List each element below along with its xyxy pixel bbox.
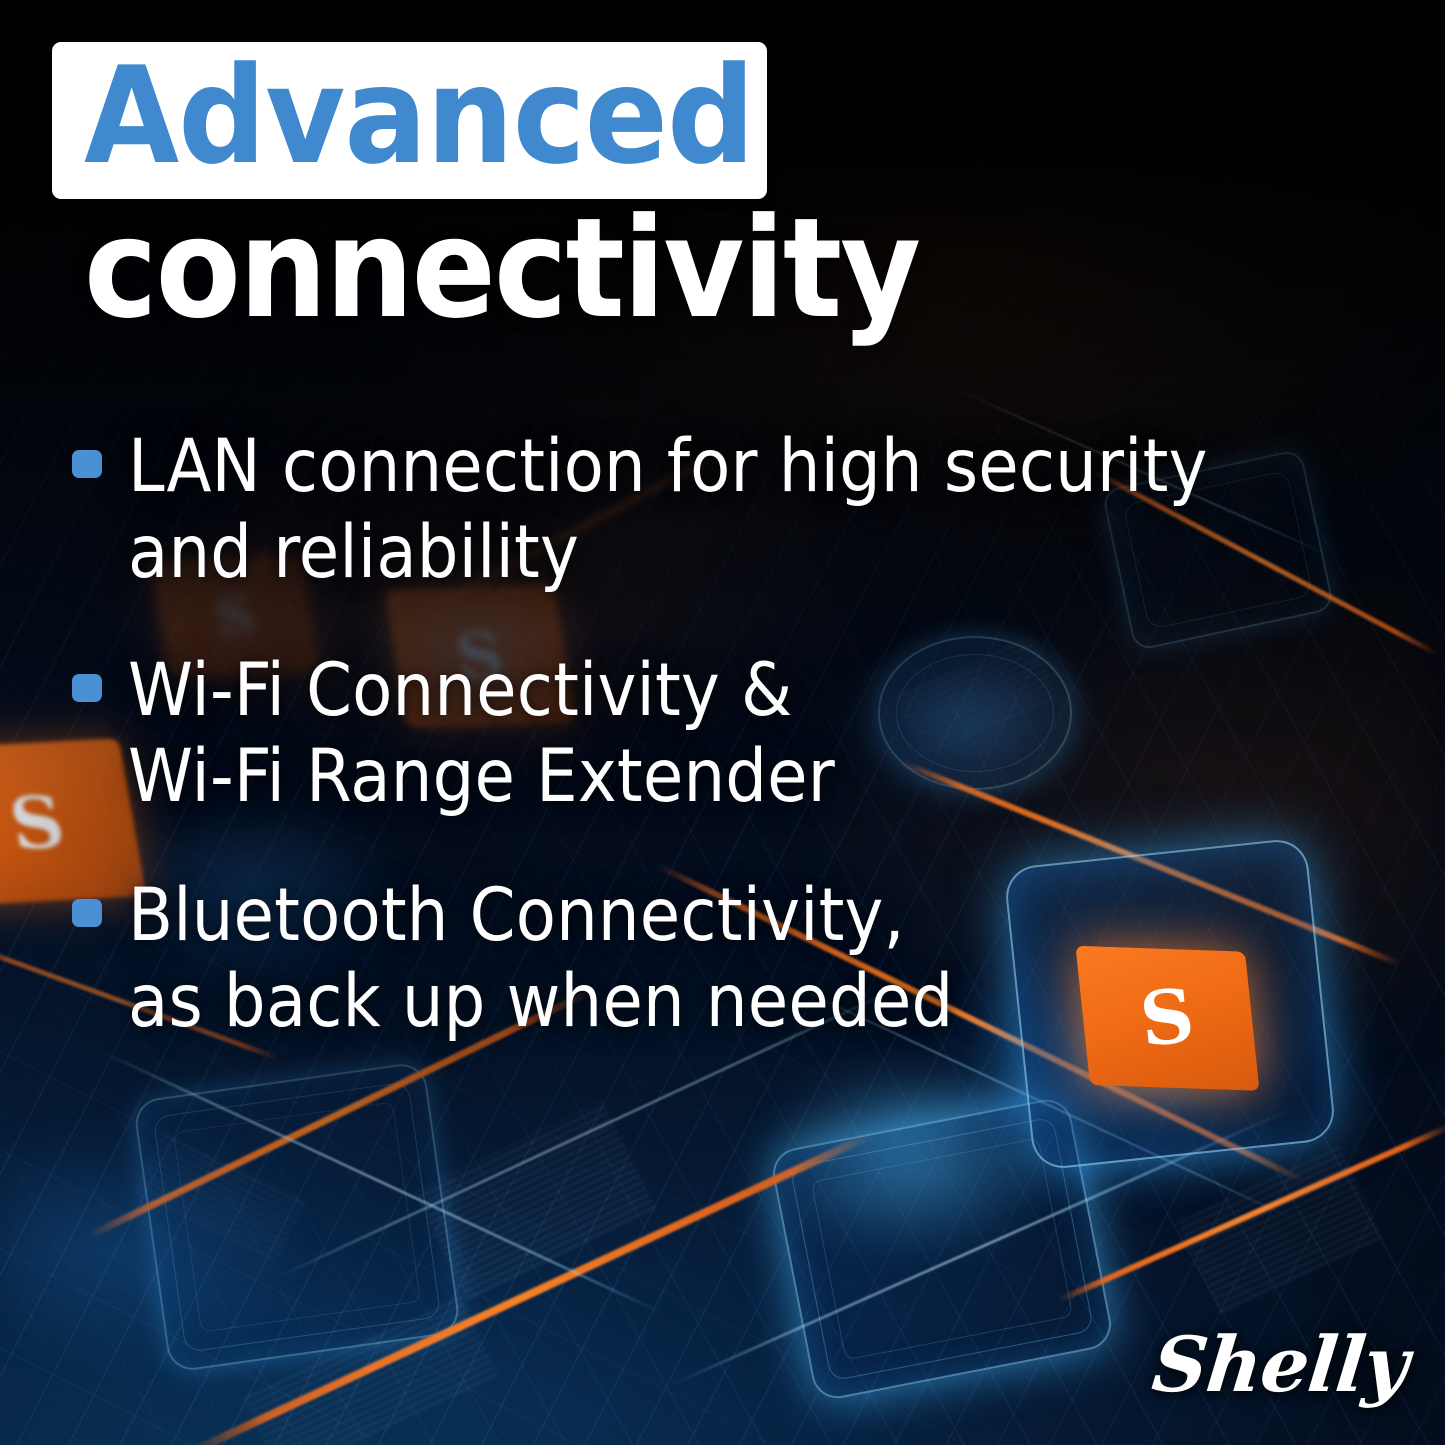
- feature-line-2: as back up when needed: [128, 959, 953, 1045]
- bullet-marker-icon: [72, 450, 102, 478]
- bullet-marker-icon: [72, 899, 102, 927]
- headline-line-1: Advanced: [84, 48, 754, 185]
- feature-line-1: Wi-Fi Connectivity &: [128, 648, 792, 733]
- headline-highlight-chip: Advanced: [52, 42, 767, 199]
- headline-line-2: connectivity: [84, 200, 919, 338]
- shelly-brand-logo: Shelly: [1148, 1320, 1412, 1409]
- feature-list-item: LAN connection for high security and rel…: [72, 424, 1312, 596]
- bullet-marker-icon: [72, 674, 102, 702]
- feature-line-2: Wi-Fi Range Extender: [128, 734, 835, 820]
- content-layer: S Advanced connectivity LAN connection f…: [0, 0, 1445, 1445]
- feature-line-1: Bluetooth Connectivity,: [128, 873, 905, 958]
- feature-list: LAN connection for high security and rel…: [72, 424, 1312, 1045]
- feature-list-item-text: Wi-Fi Connectivity & Wi-Fi Range Extende…: [128, 648, 835, 820]
- feature-list-item-text: Bluetooth Connectivity, as back up when …: [128, 873, 953, 1045]
- feature-line-1: LAN connection for high security: [128, 424, 1208, 509]
- feature-line-2: and reliability: [128, 510, 1208, 596]
- feature-list-item-text: LAN connection for high security and rel…: [128, 424, 1208, 596]
- promo-card: S S S: [0, 0, 1445, 1445]
- feature-list-item: Wi-Fi Connectivity & Wi-Fi Range Extende…: [72, 648, 1312, 820]
- feature-list-item: Bluetooth Connectivity, as back up when …: [72, 873, 1312, 1045]
